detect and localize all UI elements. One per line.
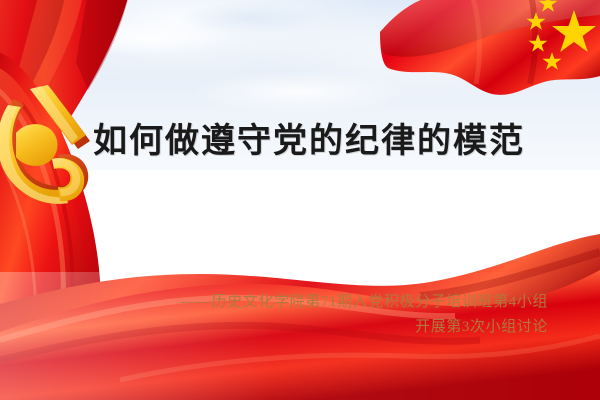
subtitle-line-2: 开展第3次小组讨论 — [168, 315, 548, 340]
slide-subtitle: ——历史文化学院第71期入党积极分子培训班第4小组 开展第3次小组讨论 — [168, 290, 548, 340]
slide-title: 如何做遵守党的纪律的模范 — [93, 123, 525, 160]
presentation-slide: 如何做遵守党的纪律的模范 ——历史文化学院第71期入党积极分子培训班第4小组 开… — [0, 0, 600, 400]
china-national-flag — [380, 0, 600, 103]
subtitle-line-1: ——历史文化学院第71期入党积极分子培训班第4小组 — [168, 290, 548, 315]
